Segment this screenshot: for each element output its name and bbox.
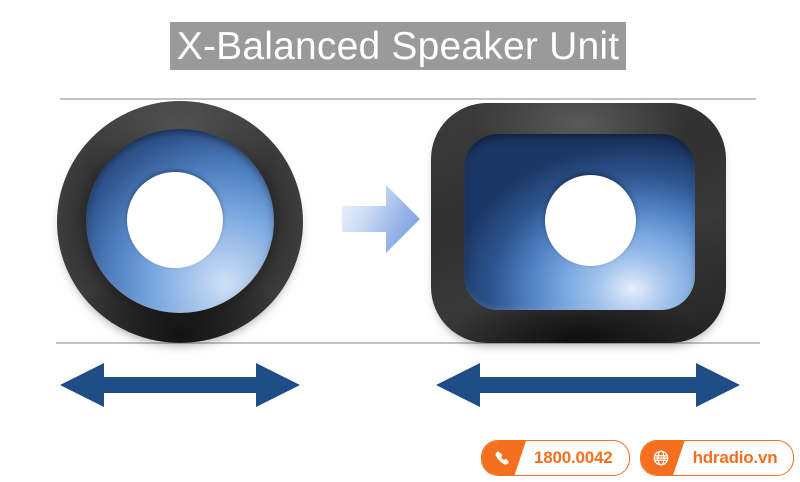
right-width-arrow: [436, 360, 740, 410]
website-badge[interactable]: hdradio.vn: [640, 440, 795, 476]
page-title: X-Balanced Speaker Unit: [177, 27, 620, 66]
left-width-arrow: [60, 360, 300, 410]
rectangular-speaker-unit: [431, 103, 726, 343]
speaker-comparison-diagram: X-Balanced Speaker Unit: [0, 0, 800, 482]
transition-arrow-icon: [340, 183, 422, 255]
title-banner: X-Balanced Speaker Unit: [170, 22, 626, 70]
phone-number-label: 1800.0042: [526, 441, 629, 475]
phone-icon: [482, 441, 526, 475]
globe-icon: [641, 441, 685, 475]
rectangular-speaker-dust-cap: [545, 175, 636, 266]
website-label: hdradio.vn: [685, 441, 794, 475]
phone-badge[interactable]: 1800.0042: [481, 440, 630, 476]
round-speaker-dust-cap: [127, 172, 223, 268]
top-guide-line: [60, 98, 756, 100]
contact-badge-row: 1800.0042 hdradio.vn: [481, 440, 794, 476]
round-speaker-unit: [57, 101, 303, 343]
